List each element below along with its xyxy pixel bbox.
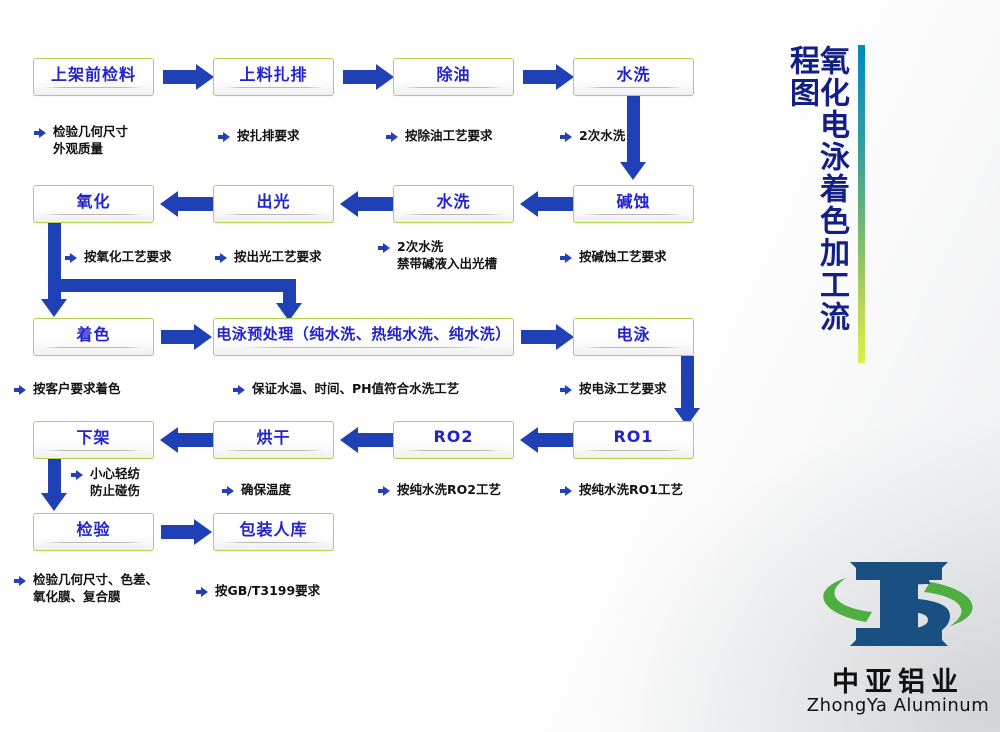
- bullet-arrow-icon: [14, 575, 26, 587]
- arrow-b15-b16-shaft: [48, 459, 61, 497]
- bullet-arrow-icon: [560, 384, 572, 396]
- arrow-b4-b5-head: [620, 162, 646, 180]
- arrow-b2-b3-head: [376, 64, 394, 90]
- bullet-arrow-icon: [560, 131, 572, 143]
- note-anchunshuixiro2: 按纯水洗RO2工艺: [378, 482, 501, 499]
- process-box-label: 包装人库: [239, 516, 307, 540]
- process-box-label: 电泳: [616, 321, 650, 345]
- arrow-b15-b16-head: [41, 493, 67, 511]
- arrow-b14-b15-head: [160, 427, 178, 453]
- bullet-arrow-icon: [196, 586, 208, 598]
- bullet-arrow-icon: [218, 131, 230, 143]
- process-box-shuixi-2[interactable]: 水洗: [393, 185, 514, 223]
- title-gradient-bar: [858, 45, 865, 363]
- note-jianyanjihechicun: 检验几何尺寸外观质量: [34, 124, 128, 158]
- note-line-2: 氧化膜、复合膜: [33, 589, 158, 606]
- arrow-b2-b3-shaft: [343, 70, 378, 84]
- process-box-label: 氧化: [76, 188, 110, 212]
- process-box-label: 上料扎排: [239, 61, 307, 85]
- note-line-1: 2次水洗: [579, 128, 625, 145]
- note-ankehuyaoqiuzhuose: 按客户要求着色: [14, 381, 121, 398]
- note-line-1: 按出光工艺要求: [234, 249, 322, 266]
- process-box-label: RO2: [433, 427, 473, 446]
- arrow-b8-b9-head: [41, 299, 67, 317]
- process-box-label: 出光: [256, 188, 290, 212]
- note-anchuyougongyi: 按除油工艺要求: [386, 128, 493, 145]
- arrow-b16-b17-shaft: [161, 525, 196, 539]
- arrow-b11-b12-shaft: [681, 356, 694, 412]
- arrow-b7-b8-head: [160, 191, 178, 217]
- arrow-b13-b14-shaft: [357, 433, 395, 447]
- arrow-b1-b2-shaft: [163, 70, 198, 84]
- note-line-1: 检验几何尺寸: [53, 124, 128, 141]
- note-line-1: 保证水温、时间、PH值符合水洗工艺: [252, 381, 459, 398]
- logo-mark-icon: [800, 556, 996, 666]
- note-baozhengshuiwen: 保证水温、时间、PH值符合水洗工艺: [233, 381, 459, 398]
- arrow-b9-b10-shaft: [161, 330, 196, 344]
- note-xiaoxinqingfang: 小心轻纺防止碰伤: [71, 466, 140, 500]
- process-box-zhuose[interactable]: 着色: [33, 318, 154, 356]
- note-line-1: 按电泳工艺要求: [579, 381, 667, 398]
- note-line-1: 按碱蚀工艺要求: [579, 249, 667, 266]
- bullet-arrow-icon: [14, 384, 26, 396]
- bullet-arrow-icon: [378, 242, 390, 254]
- arrow-b1-b2-head: [196, 64, 214, 90]
- process-box-label: 检验: [76, 516, 110, 540]
- page-title: 氧化电泳着色加工流程图: [786, 45, 846, 363]
- process-box-yanghua[interactable]: 氧化: [33, 185, 154, 223]
- process-box-baozhuangruku[interactable]: 包装人库: [213, 513, 334, 551]
- arrow-b6-b7-head: [340, 191, 358, 217]
- note-line-1: 按GB/T3199要求: [215, 583, 320, 600]
- process-box-label: 着色: [76, 321, 110, 345]
- note-line-1: 检验几何尺寸、色差、: [33, 572, 158, 589]
- note-line-2: 禁带碱液入出光槽: [397, 256, 497, 273]
- process-box-label: 碱蚀: [616, 188, 650, 212]
- arrow-b13-b14-head: [340, 427, 358, 453]
- arrow-b5-b6-head: [520, 191, 538, 217]
- process-box-label: RO1: [613, 427, 653, 446]
- arrow-b8-b10-horizontal: [48, 279, 296, 292]
- note-angbt3199: 按GB/T3199要求: [196, 583, 320, 600]
- process-box-jianyan[interactable]: 检验: [33, 513, 154, 551]
- process-box-label: 水洗: [616, 61, 650, 85]
- process-box-chuguang[interactable]: 出光: [213, 185, 334, 223]
- note-line-1: 按纯水洗RO2工艺: [397, 482, 501, 499]
- note-line-1: 按除油工艺要求: [405, 128, 493, 145]
- note-2cishuixi-1: 2次水洗: [560, 128, 625, 145]
- process-box-ro1[interactable]: RO1: [573, 421, 694, 459]
- note-quebaowendu: 确保温度: [222, 482, 291, 499]
- arrow-b10-b11-shaft: [521, 330, 558, 344]
- bullet-arrow-icon: [378, 485, 390, 497]
- note-anyanghuagongyi: 按氧化工艺要求: [65, 249, 172, 266]
- bullet-arrow-icon: [215, 252, 227, 264]
- note-line-1: 按客户要求着色: [33, 381, 121, 398]
- arrow-b6-b7-shaft: [357, 197, 395, 211]
- arrow-b16-b17-head: [194, 519, 212, 545]
- arrow-b9-b10-head: [194, 324, 212, 350]
- arrow-b4-b5-shaft: [627, 96, 640, 164]
- arrow-b7-b8-shaft: [177, 197, 215, 211]
- logo-company-name-cn: 中亚铝业: [800, 660, 996, 699]
- note-line-1: 按扎排要求: [237, 128, 300, 145]
- process-box-label: 电泳预处理（纯水洗、热纯水洗、纯水洗）: [216, 323, 511, 344]
- note-line-1: 确保温度: [241, 482, 291, 499]
- note-line-2: 外观质量: [53, 141, 128, 158]
- bullet-arrow-icon: [233, 384, 245, 396]
- note-andianyonggongyi: 按电泳工艺要求: [560, 381, 667, 398]
- process-box-chuyou[interactable]: 除油: [393, 58, 514, 96]
- bullet-arrow-icon: [71, 469, 83, 481]
- process-box-ro2[interactable]: RO2: [393, 421, 514, 459]
- bullet-arrow-icon: [34, 127, 46, 139]
- process-box-honggan[interactable]: 烘干: [213, 421, 334, 459]
- process-box-label: 烘干: [256, 424, 290, 448]
- arrow-b3-b4-shaft: [523, 70, 558, 84]
- bullet-arrow-icon: [560, 485, 572, 497]
- arrow-b12-b13-head: [520, 427, 538, 453]
- arrow-b12-b13-shaft: [537, 433, 575, 447]
- process-box-label: 上架前检料: [51, 61, 136, 85]
- note-line-1: 小心轻纺: [90, 466, 140, 483]
- note-line-1: 2次水洗: [397, 239, 497, 256]
- arrow-b10-b11-head: [556, 324, 574, 350]
- arrow-b3-b4-head: [556, 64, 574, 90]
- process-box-xiajia[interactable]: 下架: [33, 421, 154, 459]
- process-box-shuixi-1[interactable]: 水洗: [573, 58, 694, 96]
- logo-company-name-en: ZhongYa Aluminum: [800, 695, 996, 716]
- note-anchunshuixiro1: 按纯水洗RO1工艺: [560, 482, 683, 499]
- bullet-arrow-icon: [222, 485, 234, 497]
- note-anchuguanggongyi: 按出光工艺要求: [215, 249, 322, 266]
- bullet-arrow-icon: [65, 252, 77, 264]
- note-line-2: 防止碰伤: [90, 483, 140, 500]
- bullet-arrow-icon: [386, 131, 398, 143]
- note-anjianshigongyi: 按碱蚀工艺要求: [560, 249, 667, 266]
- process-box-shangliaozhapai[interactable]: 上料扎排: [213, 58, 334, 96]
- process-box-label: 水洗: [436, 188, 470, 212]
- flowchart-canvas: 上架前检料 上料扎排 除油 水洗 检验几何尺寸外观质量 按扎排要求 按除油工艺要…: [0, 0, 1000, 732]
- note-2cishuixi-2: 2次水洗禁带碱液入出光槽: [378, 239, 497, 273]
- note-jianyanjihechicunsecha: 检验几何尺寸、色差、氧化膜、复合膜: [14, 572, 158, 606]
- arrow-b14-b15-shaft: [177, 433, 215, 447]
- company-logo: 中亚铝业 ZhongYa Aluminum: [800, 556, 996, 724]
- process-box-label: 除油: [436, 61, 470, 85]
- chart-title-block: 氧化电泳着色加工流程图: [786, 45, 865, 365]
- arrow-b5-b6-shaft: [537, 197, 575, 211]
- process-box-dianyong[interactable]: 电泳: [573, 318, 694, 356]
- process-box-shangjiaqianjianliao[interactable]: 上架前检料: [33, 58, 154, 96]
- process-box-dianyongyuchuli[interactable]: 电泳预处理（纯水洗、热纯水洗、纯水洗）: [213, 318, 514, 356]
- note-line-1: 按氧化工艺要求: [84, 249, 172, 266]
- process-box-label: 下架: [76, 424, 110, 448]
- bullet-arrow-icon: [560, 252, 572, 264]
- note-line-1: 按纯水洗RO1工艺: [579, 482, 683, 499]
- process-box-jianshi[interactable]: 碱蚀: [573, 185, 694, 223]
- note-anzhapaiyaoqiu: 按扎排要求: [218, 128, 300, 145]
